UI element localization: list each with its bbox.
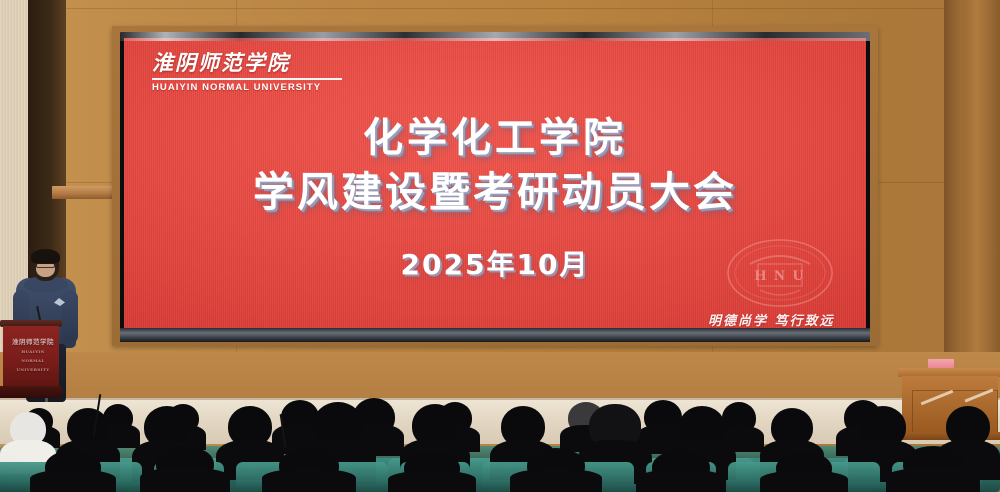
presenter-glasses [36,263,55,268]
shoulders [140,468,230,492]
audience-member [140,446,230,492]
university-logo: 淮阴师范学院 HUAIYIN NORMAL UNIVERSITY [152,50,352,93]
title-line-1: 化学化工学院 [124,112,866,164]
audience-member [886,446,980,492]
audience-member [30,450,116,492]
audience [0,392,1000,492]
shoulders [886,468,980,492]
audience-member [510,448,602,492]
university-name-en: HUAIYIN NORMAL UNIVERSITY [152,82,352,93]
speaker-podium: 淮阴师范学院 HUAIYIN NORMAL UNIVERSITY [0,320,62,402]
shoulders [760,471,848,492]
university-name-cn: 淮阴师范学院 [152,50,352,75]
title-line-2: 学风建设暨考研动员大会 [124,164,866,220]
shoulders [510,469,602,492]
right-column-edge [944,0,962,400]
presenter-arm-right [62,290,78,344]
shoulders [262,469,356,492]
wall-seam [0,8,1000,9]
shoulders [30,470,116,492]
logo-divider [152,78,342,80]
event-date: 2025年10月 [124,243,866,283]
podium-body: 淮阴师范学院 HUAIYIN NORMAL UNIVERSITY [3,326,59,388]
conference-hall-scene: 淮阴师范学院 HUAIYIN NORMAL UNIVERSITY 化学化工学院 … [0,0,1000,492]
right-wood-column [962,0,1000,400]
screen-top-glare [120,32,870,41]
university-motto: 明德尚学 笃行致远 [708,310,858,328]
screen-bottom-lip [120,328,870,342]
audience-member [262,448,356,492]
shoulders [388,471,476,492]
audience-member [636,450,726,492]
event-headline: 化学化工学院 学风建设暨考研动员大会 [124,112,866,220]
presenter-hair [31,249,60,264]
audience-member [388,452,476,492]
podium-plate-cn: 淮阴师范学院 [9,338,57,347]
shoulders [636,470,726,492]
led-display: 淮阴师范学院 HUAIYIN NORMAL UNIVERSITY 化学化工学院 … [124,38,866,328]
podium-plate-en: HUAIYIN NORMAL UNIVERSITY [9,347,57,374]
audience-member [760,452,848,492]
podium-nameplate: 淮阴师范学院 HUAIYIN NORMAL UNIVERSITY [9,338,57,358]
